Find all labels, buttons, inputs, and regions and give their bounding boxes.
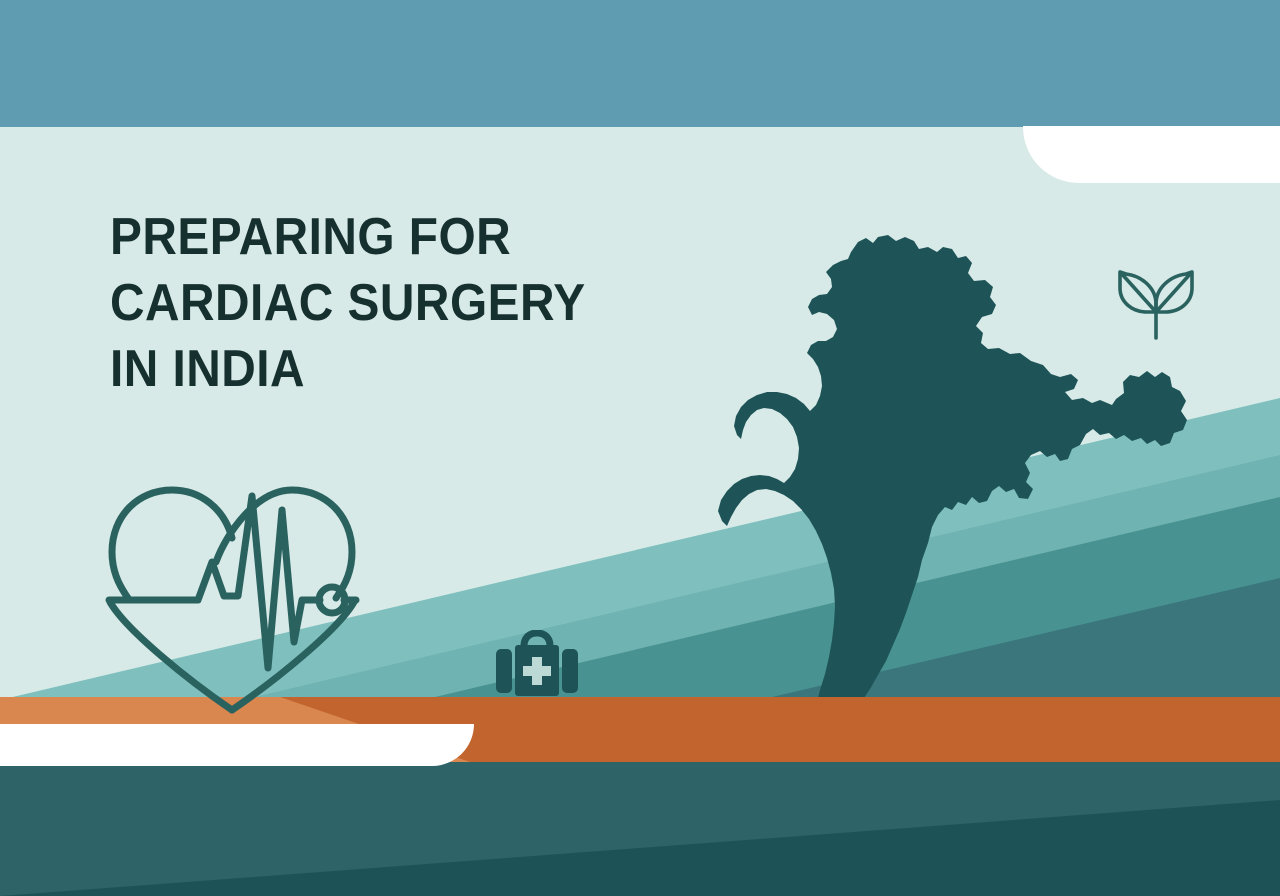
white-notch-top-right [1023, 126, 1280, 183]
page-title-line-2: CARDIAC SURGERY [110, 270, 625, 336]
heart-outline-left-bottom [110, 602, 232, 710]
bag-side-right [562, 649, 578, 693]
white-notch-bottom-left [0, 724, 474, 766]
top-blue-band [0, 0, 1280, 127]
medical-bag-icon [494, 630, 580, 698]
page-title-line-3: IN INDIA [110, 336, 625, 402]
poster-canvas: PREPARING FOR CARDIAC SURGERY IN INDIA [0, 0, 1280, 896]
bag-handle [524, 633, 550, 646]
heart-pulse-icon [92, 466, 372, 728]
bag-side-left [496, 649, 512, 693]
sprout-leaf-icon [1112, 262, 1200, 344]
page-title-line-1: PREPARING FOR [110, 204, 625, 270]
page-title: PREPARING FOR CARDIAC SURGERY IN INDIA [110, 204, 625, 402]
heart-outline-left-top [112, 490, 232, 598]
